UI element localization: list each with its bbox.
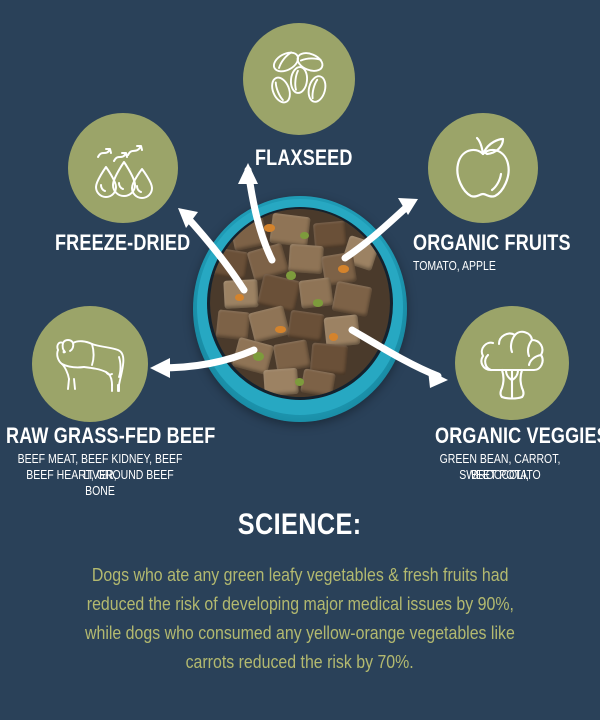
badge-raw-grass-fed-beef[interactable] (32, 306, 148, 422)
label-organic-veggies: ORGANIC VEGGIES (435, 424, 600, 447)
science-body-line-3: while dogs who consumed any yellow-orang… (40, 618, 560, 647)
infographic-canvas: FLAXSEED FREEZE-DRIED (0, 0, 600, 720)
badge-flaxseed[interactable] (243, 23, 355, 135)
badge-organic-veggies[interactable] (455, 306, 569, 420)
science-heading-text: SCIENCE: (238, 508, 362, 542)
arrow-to-organic-veggies (352, 330, 438, 376)
flaxseed-icon (262, 42, 336, 116)
science-body-line-1: Dogs who ate any green leafy vegetables … (40, 560, 560, 589)
cow-icon (48, 327, 132, 401)
sublabel-raw-grass-fed-beef-line2: BEEF HEART, GROUND BEEF BONE (16, 468, 184, 499)
arrowhead-raw-beef (150, 358, 170, 378)
science-heading: SCIENCE: (0, 508, 600, 542)
science-body: Dogs who ate any green leafy vegetables … (40, 560, 560, 676)
badge-organic-fruits[interactable] (428, 113, 538, 223)
arrow-to-freeze-dried (186, 216, 244, 290)
broccoli-icon (472, 324, 552, 402)
science-body-line-4: carrots reduced the risk by 70%. (40, 647, 560, 676)
badge-freeze-dried[interactable] (68, 113, 178, 223)
label-flaxseed: FLAXSEED (255, 146, 353, 169)
sublabel-organic-fruits: TOMATO, APPLE (413, 259, 573, 275)
label-organic-fruits: ORGANIC FRUITS (413, 231, 571, 254)
arrow-to-organic-fruits (345, 205, 409, 258)
apple-icon (445, 130, 521, 206)
label-raw-grass-fed-beef: RAW GRASS-FED BEEF (6, 424, 215, 447)
arrow-to-raw-beef (158, 350, 254, 368)
sublabel-organic-veggies-line2: SWEET POTATO (416, 468, 584, 484)
science-body-line-2: reduced the risk of developing major med… (40, 589, 560, 618)
label-freeze-dried: FREEZE-DRIED (55, 231, 190, 254)
freeze-dried-droplets-icon (86, 131, 160, 205)
